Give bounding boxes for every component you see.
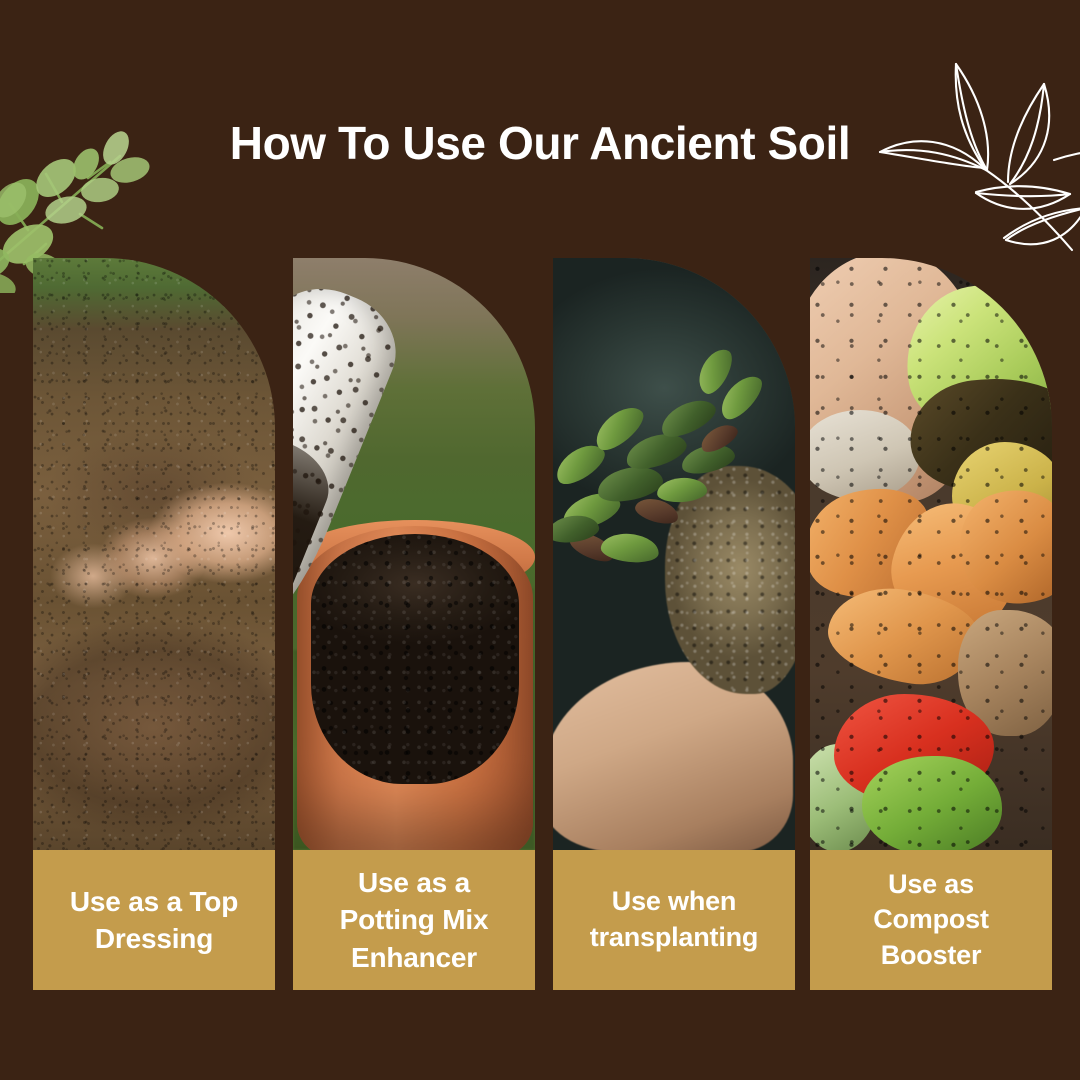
page-title: How To Use Our Ancient Soil bbox=[0, 118, 1080, 169]
card-caption: Use as a Top Dressing bbox=[66, 883, 242, 957]
succulent-photo-surface bbox=[553, 258, 795, 850]
lettuce-leaf bbox=[862, 756, 1002, 850]
caption-band-top-dressing: Use as a Top Dressing bbox=[33, 850, 275, 990]
photo-trowel-filling-pot bbox=[293, 258, 535, 850]
soil-photo-surface bbox=[33, 258, 275, 850]
usage-card-top-dressing[interactable]: Use as a Top Dressing bbox=[33, 258, 275, 990]
card-caption: Use as Compost Booster bbox=[869, 867, 993, 972]
caption-band-transplanting: Use when transplanting bbox=[553, 850, 795, 990]
usage-card-compost-booster[interactable]: Use as Compost Booster bbox=[810, 258, 1052, 990]
card-caption: Use as a Potting Mix Enhancer bbox=[336, 864, 493, 976]
succulent-leaves bbox=[553, 318, 779, 648]
photo-hand-with-compost-scraps bbox=[810, 258, 1052, 850]
caption-band-compost-booster: Use as Compost Booster bbox=[810, 850, 1052, 990]
caption-band-potting-mix: Use as a Potting Mix Enhancer bbox=[293, 850, 535, 990]
compost-photo-surface bbox=[810, 258, 1052, 850]
pot-photo-surface bbox=[293, 258, 535, 850]
photo-hands-holding-soil bbox=[33, 258, 275, 850]
usage-card-transplanting[interactable]: Use when transplanting bbox=[553, 258, 795, 990]
photo-hands-holding-succulent bbox=[553, 258, 795, 850]
poster-canvas: How To Use Our Ancient Soil Use as a Top… bbox=[0, 0, 1080, 1080]
card-caption: Use when transplanting bbox=[586, 884, 762, 956]
usage-card-potting-mix[interactable]: Use as a Potting Mix Enhancer bbox=[293, 258, 535, 990]
pot-dark-soil bbox=[311, 534, 519, 784]
